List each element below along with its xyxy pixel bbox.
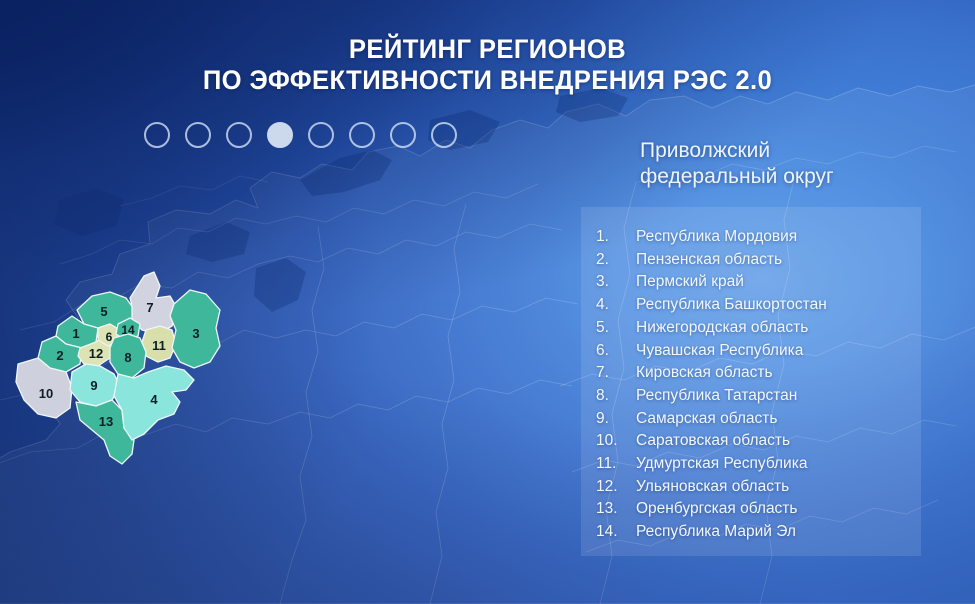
volga-district-map: 5 1 2 10 7 11 12: [14, 268, 244, 483]
rank-number: 1.: [596, 226, 636, 249]
list-item[interactable]: 14.Республика Марий Эл: [596, 521, 926, 544]
map-region-label-7: 7: [146, 300, 153, 315]
list-item[interactable]: 4.Республика Башкортостан: [596, 294, 926, 317]
map-region-3[interactable]: 3: [170, 290, 220, 368]
rank-number: 7.: [596, 362, 636, 385]
pagination-dot-8[interactable]: [431, 122, 457, 148]
region-name: Пермский край: [636, 271, 926, 294]
list-item[interactable]: 6.Чувашская Республика: [596, 340, 926, 363]
region-name: Саратовская область: [636, 430, 926, 453]
list-item[interactable]: 2.Пензенская область: [596, 249, 926, 272]
ranking-list: 1.Республика Мордовия 2.Пензенская облас…: [596, 226, 926, 544]
rank-number: 13.: [596, 498, 636, 521]
list-item[interactable]: 1.Республика Мордовия: [596, 226, 926, 249]
rank-number: 14.: [596, 521, 636, 544]
rank-number: 3.: [596, 271, 636, 294]
region-name: Республика Башкортостан: [636, 294, 926, 317]
map-region-label-4: 4: [150, 392, 158, 407]
rank-number: 10.: [596, 430, 636, 453]
map-region-label-13: 13: [99, 414, 113, 429]
region-name: Оренбургская область: [636, 498, 926, 521]
list-item[interactable]: 9.Самарская область: [596, 408, 926, 431]
region-name: Пензенская область: [636, 249, 926, 272]
map-region-label-10: 10: [39, 386, 53, 401]
federal-district-heading: Приволжский федеральный округ: [640, 138, 834, 190]
list-item[interactable]: 8.Республика Татарстан: [596, 385, 926, 408]
list-item[interactable]: 5.Нижегородская область: [596, 317, 926, 340]
slide-canvas: 5 1 2 10 7 11 12: [0, 0, 975, 604]
region-name: Ульяновская область: [636, 476, 926, 499]
list-item[interactable]: 12.Ульяновская область: [596, 476, 926, 499]
rank-number: 6.: [596, 340, 636, 363]
map-region-11[interactable]: 11: [142, 326, 176, 362]
map-region-label-1: 1: [72, 326, 79, 341]
pagination-dot-2[interactable]: [185, 122, 211, 148]
region-name: Республика Марий Эл: [636, 521, 926, 544]
rank-number: 8.: [596, 385, 636, 408]
map-region-label-11: 11: [152, 338, 166, 353]
map-region-label-8: 8: [124, 350, 131, 365]
rank-number: 2.: [596, 249, 636, 272]
map-region-label-2: 2: [56, 348, 63, 363]
list-item[interactable]: 7.Кировская область: [596, 362, 926, 385]
district-line-1: Приволжский: [640, 138, 834, 164]
list-item[interactable]: 3.Пермский край: [596, 271, 926, 294]
region-name: Республика Татарстан: [636, 385, 926, 408]
map-region-label-6: 6: [106, 330, 113, 344]
region-name: Чувашская Республика: [636, 340, 926, 363]
map-region-label-9: 9: [90, 378, 97, 393]
page-title: РЕЙТИНГ РЕГИОНОВ ПО ЭФФЕКТИВНОСТИ ВНЕДРЕ…: [0, 34, 975, 96]
region-name: Удмуртская Республика: [636, 453, 926, 476]
map-region-label-12: 12: [89, 346, 103, 361]
list-item[interactable]: 13.Оренбургская область: [596, 498, 926, 521]
district-line-2: федеральный округ: [640, 164, 834, 190]
rank-number: 9.: [596, 408, 636, 431]
rank-number: 5.: [596, 317, 636, 340]
pagination-dot-3[interactable]: [226, 122, 252, 148]
map-region-4[interactable]: 4: [114, 366, 194, 440]
list-item[interactable]: 11.Удмуртская Республика: [596, 453, 926, 476]
pagination-dot-4-active[interactable]: [267, 122, 293, 148]
pagination-dot-1[interactable]: [144, 122, 170, 148]
slide-pagination[interactable]: [0, 122, 600, 148]
pagination-dot-7[interactable]: [390, 122, 416, 148]
title-line-2: ПО ЭФФЕКТИВНОСТИ ВНЕДРЕНИЯ РЭС 2.0: [24, 65, 950, 96]
rank-number: 11.: [596, 453, 636, 476]
map-region-8[interactable]: 8: [110, 334, 146, 378]
region-name: Республика Мордовия: [636, 226, 926, 249]
pagination-dot-6[interactable]: [349, 122, 375, 148]
region-name: Нижегородская область: [636, 317, 926, 340]
rank-number: 12.: [596, 476, 636, 499]
rank-number: 4.: [596, 294, 636, 317]
map-region-label-3: 3: [192, 326, 199, 341]
title-line-1: РЕЙТИНГ РЕГИОНОВ: [24, 34, 950, 65]
region-name: Кировская область: [636, 362, 926, 385]
pagination-dot-5[interactable]: [308, 122, 334, 148]
list-item[interactable]: 10.Саратовская область: [596, 430, 926, 453]
region-name: Самарская область: [636, 408, 926, 431]
map-region-label-5: 5: [100, 304, 107, 319]
